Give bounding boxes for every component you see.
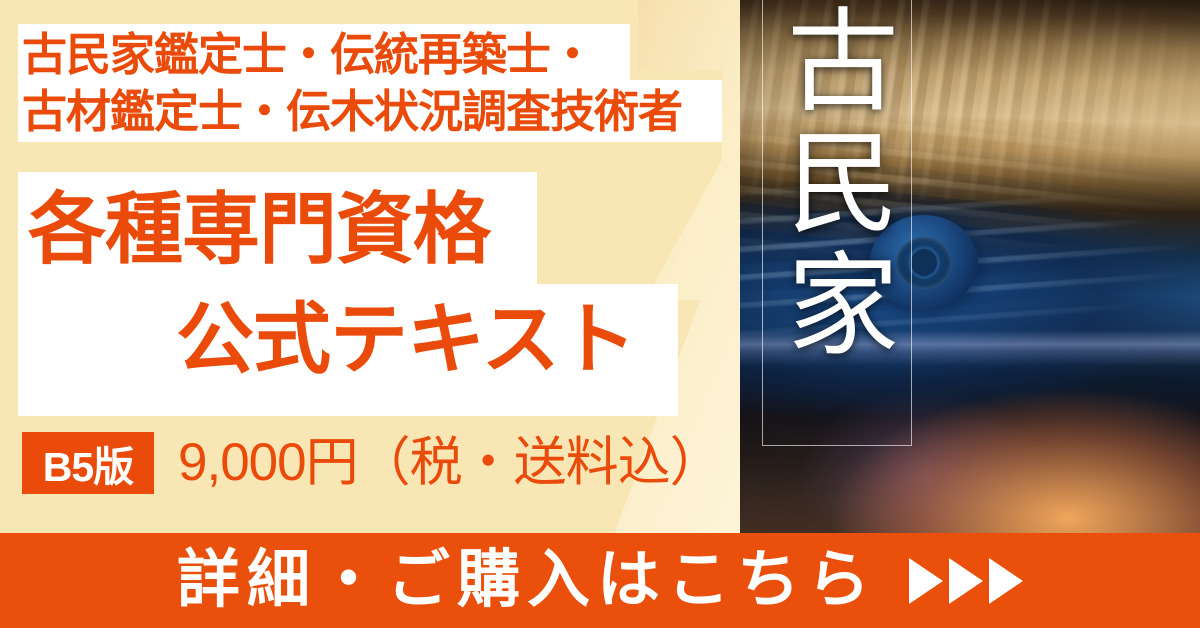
cta-label: 詳細・ご購入はこちら: [177, 549, 877, 612]
headline-line-1: 古民家鑑定士・伝統再築士・: [22, 32, 594, 77]
triangle-right-icon: [909, 558, 943, 604]
title-line-2: 公式テキスト: [176, 300, 636, 378]
promo-banner: 古民家 伝統構法 古民家活用のための調査と再生の 古民家鑑定士・伝統再築士・ 古…: [0, 0, 1200, 628]
triangle-right-icon: [989, 558, 1023, 604]
triangle-right-icon: [949, 558, 983, 604]
cta-bar[interactable]: 詳細・ご購入はこちら: [0, 533, 1200, 628]
headline-line-2: 古材鑑定士・伝木状況調査技術者: [22, 89, 682, 134]
price-text: 9,000円（税・送料込）: [178, 436, 722, 489]
cta-arrow-group: [909, 558, 1023, 604]
title-line-1: 各種専門資格: [28, 190, 490, 268]
book-cover-title: 古民家: [772, 2, 900, 368]
format-badge: B5版: [22, 432, 154, 494]
